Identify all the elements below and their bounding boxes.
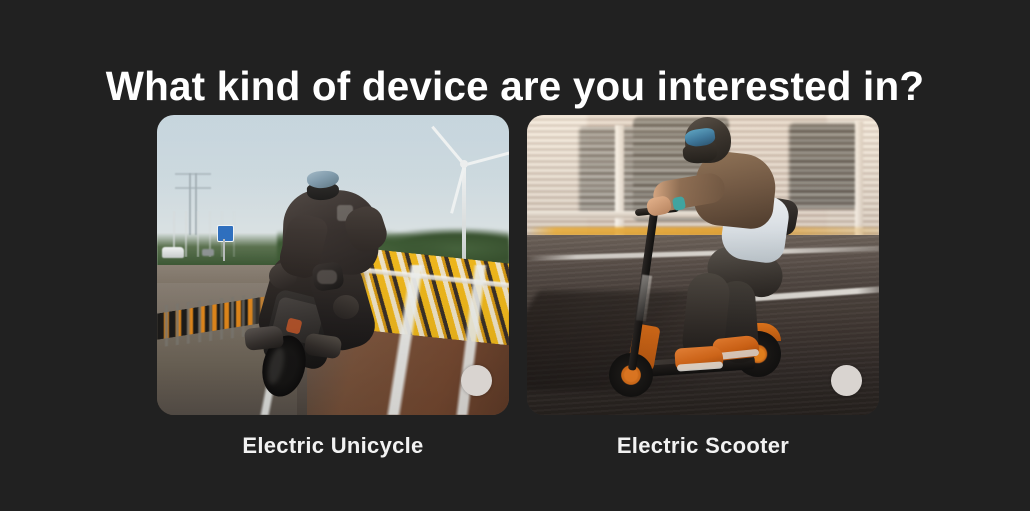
device-options-group: Electric Unicycle xyxy=(157,115,879,459)
scooter-photo xyxy=(527,115,879,415)
photo-grade xyxy=(157,115,509,415)
option-electric-scooter[interactable]: Electric Scooter xyxy=(527,115,879,459)
device-card-unicycle[interactable] xyxy=(157,115,509,415)
option-label-unicycle: Electric Unicycle xyxy=(242,433,423,459)
option-label-scooter: Electric Scooter xyxy=(617,433,789,459)
device-selection-screen: What kind of device are you interested i… xyxy=(0,0,1030,511)
unicycle-photo xyxy=(157,115,509,415)
radio-unselected-icon-unicycle[interactable] xyxy=(461,365,492,396)
photo-grade xyxy=(527,115,879,415)
device-card-scooter[interactable] xyxy=(527,115,879,415)
page-title: What kind of device are you interested i… xyxy=(8,61,1023,111)
option-electric-unicycle[interactable]: Electric Unicycle xyxy=(157,115,509,459)
radio-unselected-icon-scooter[interactable] xyxy=(831,365,862,396)
